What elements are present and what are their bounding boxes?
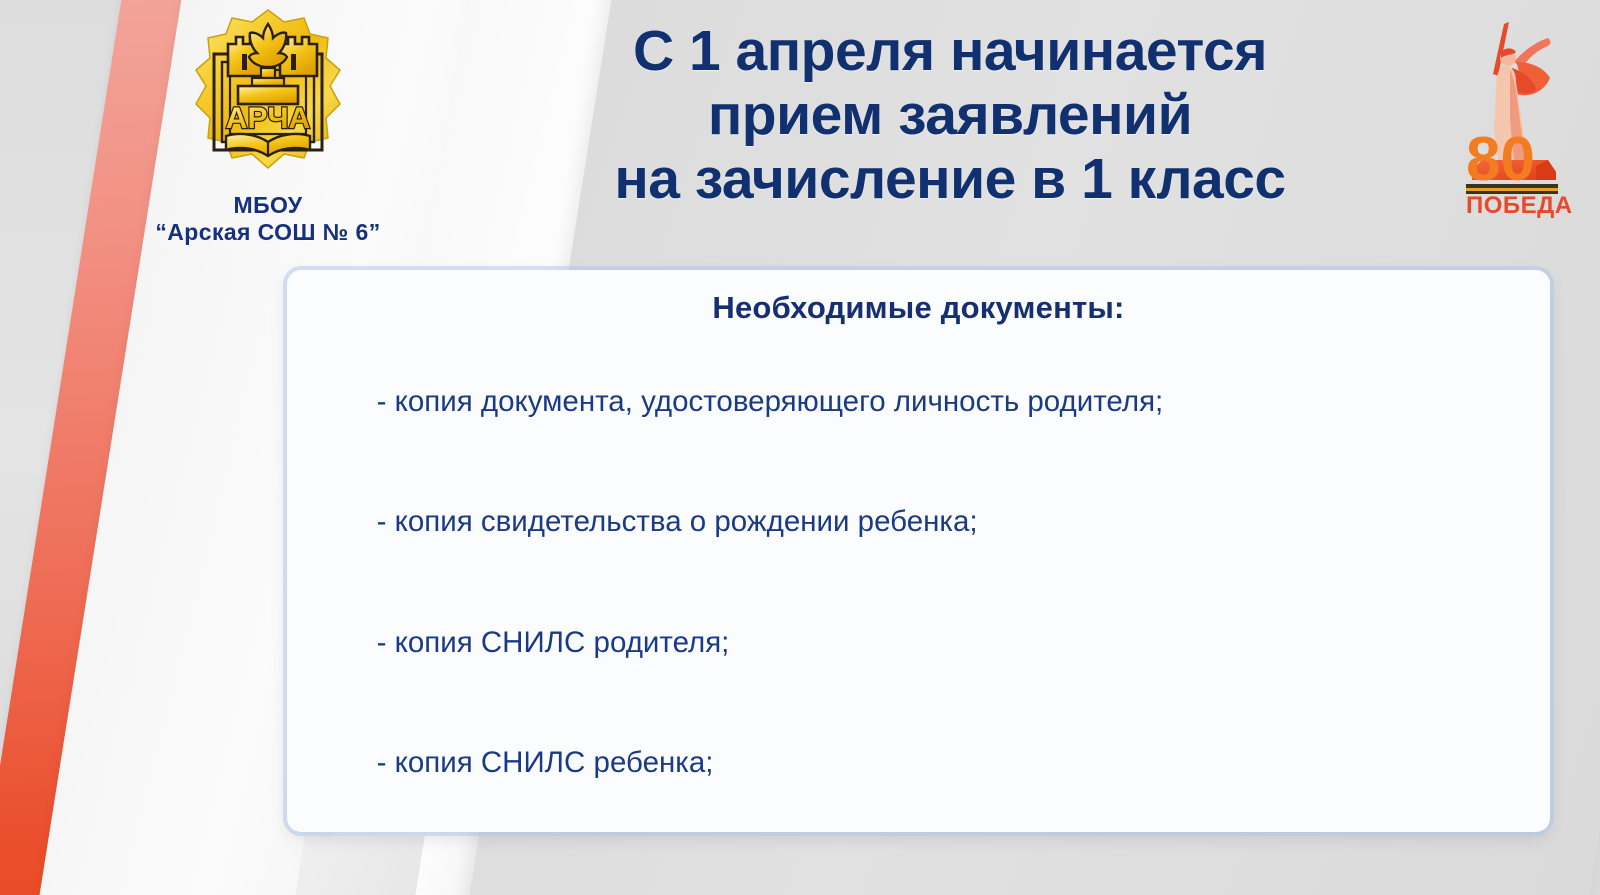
school-emblem-icon: АРЧА: [192, 8, 344, 186]
page-title-line1: С 1 апреля начинается: [520, 20, 1380, 84]
victory-80-emblem: 80 ПОБЕДА!: [1452, 10, 1572, 220]
list-item: - копия СНИЛС родителя;: [311, 583, 1532, 703]
required-documents-list: - копия документа, удостоверяющего лично…: [287, 342, 1550, 832]
list-item: - копия свидетельства о рождении ребенка…: [311, 462, 1532, 582]
required-documents-panel: Необходимые документы: - копия документа…: [287, 270, 1550, 832]
list-item-main: - копия СНИЛС ребенка;: [377, 746, 714, 779]
emblem-text: АРЧА: [226, 102, 310, 135]
slide-root: АРЧА МБОУ “Арская СОШ № 6” С 1 апреля на…: [0, 0, 1600, 895]
panel-title: Необходимые документы:: [287, 290, 1550, 326]
list-item: - копия документа, удостоверяющего лично…: [311, 342, 1532, 462]
school-name: МБОУ “Арская СОШ № 6”: [118, 192, 418, 246]
background-bottom-wedge: [295, 836, 425, 895]
page-title-line3: на зачисление в 1 класс: [520, 148, 1380, 212]
list-item-main: - копия документа, удостоверяющего лично…: [377, 385, 1164, 418]
school-name-line1: МБОУ: [118, 192, 418, 219]
page-title-line2: прием заявлений: [520, 84, 1380, 148]
list-item-main: - копия свидетельства о рождении ребенка…: [377, 505, 978, 538]
school-identity-block: АРЧА МБОУ “Арская СОШ № 6”: [118, 8, 418, 246]
list-item: - копия СНИЛС ребенка;: [311, 703, 1532, 823]
victory-80-icon: 80 ПОБЕДА!: [1452, 10, 1572, 220]
page-title: С 1 апреля начинается прием заявлений на…: [520, 20, 1380, 211]
victory-word: ПОБЕДА!: [1466, 192, 1572, 219]
list-item: - копия свидетельства о рождении или пас…: [311, 823, 1532, 832]
school-name-line2: “Арская СОШ № 6”: [118, 219, 418, 246]
list-item-main: - копия СНИЛС родителя;: [377, 626, 730, 659]
victory-number: 80: [1466, 125, 1535, 194]
